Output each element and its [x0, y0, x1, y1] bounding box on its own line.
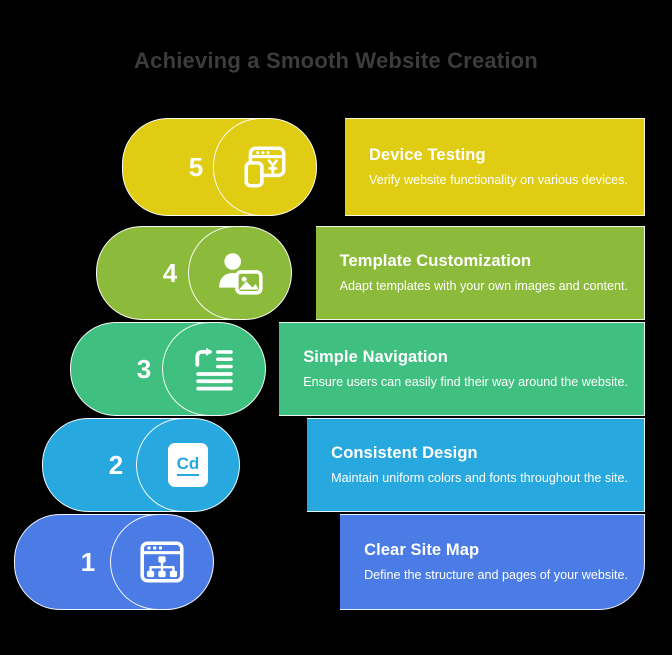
step-title: Template Customization [340, 252, 628, 271]
step-number: 4 [163, 260, 177, 286]
step-title: Simple Navigation [303, 348, 628, 367]
cd-app-icon-label: Cd [177, 455, 200, 476]
step-content-panel: Device Testing Verify website functional… [345, 118, 645, 216]
page-title: Achieving a Smooth Website Creation [0, 48, 672, 74]
step-description: Maintain uniform colors and fonts throug… [331, 470, 628, 487]
step-title: Consistent Design [331, 444, 628, 463]
step-icon-pill [162, 322, 266, 416]
step-number: 3 [137, 356, 151, 382]
step-content-panel: Template Customization Adapt templates w… [316, 226, 645, 320]
step-row-4[interactable]: Template Customization Adapt templates w… [0, 226, 672, 320]
step-content-panel: Consistent Design Maintain uniform color… [307, 418, 645, 512]
step-content-panel: Simple Navigation Ensure users can easil… [279, 322, 645, 416]
step-icon-pill [110, 514, 214, 610]
infographic-canvas: Achieving a Smooth Website Creation Devi… [0, 0, 672, 655]
sitemap-browser-icon [137, 537, 187, 587]
step-row-5[interactable]: Device Testing Verify website functional… [0, 118, 672, 216]
step-row-2[interactable]: Consistent Design Maintain uniform color… [0, 418, 672, 512]
cd-app-icon: Cd [168, 443, 208, 487]
device-testing-icon [240, 142, 290, 192]
step-number: 2 [109, 452, 123, 478]
step-description: Define the structure and pages of your w… [364, 567, 628, 584]
user-photo-icon [215, 248, 265, 298]
step-icon-pill [213, 118, 317, 216]
step-icon-pill: Cd [136, 418, 240, 512]
step-title: Device Testing [369, 146, 628, 165]
step-description: Verify website functionality on various … [369, 172, 628, 189]
step-content-panel: Clear Site Map Define the structure and … [340, 514, 645, 610]
step-number: 5 [189, 154, 203, 180]
step-icon-pill [188, 226, 292, 320]
step-title: Clear Site Map [364, 541, 628, 560]
step-description: Ensure users can easily find their way a… [303, 374, 628, 391]
step-number: 1 [81, 549, 95, 575]
step-row-3[interactable]: Simple Navigation Ensure users can easil… [0, 322, 672, 416]
step-row-1[interactable]: Clear Site Map Define the structure and … [0, 514, 672, 610]
indent-list-icon [189, 344, 239, 394]
step-description: Adapt templates with your own images and… [340, 278, 628, 295]
